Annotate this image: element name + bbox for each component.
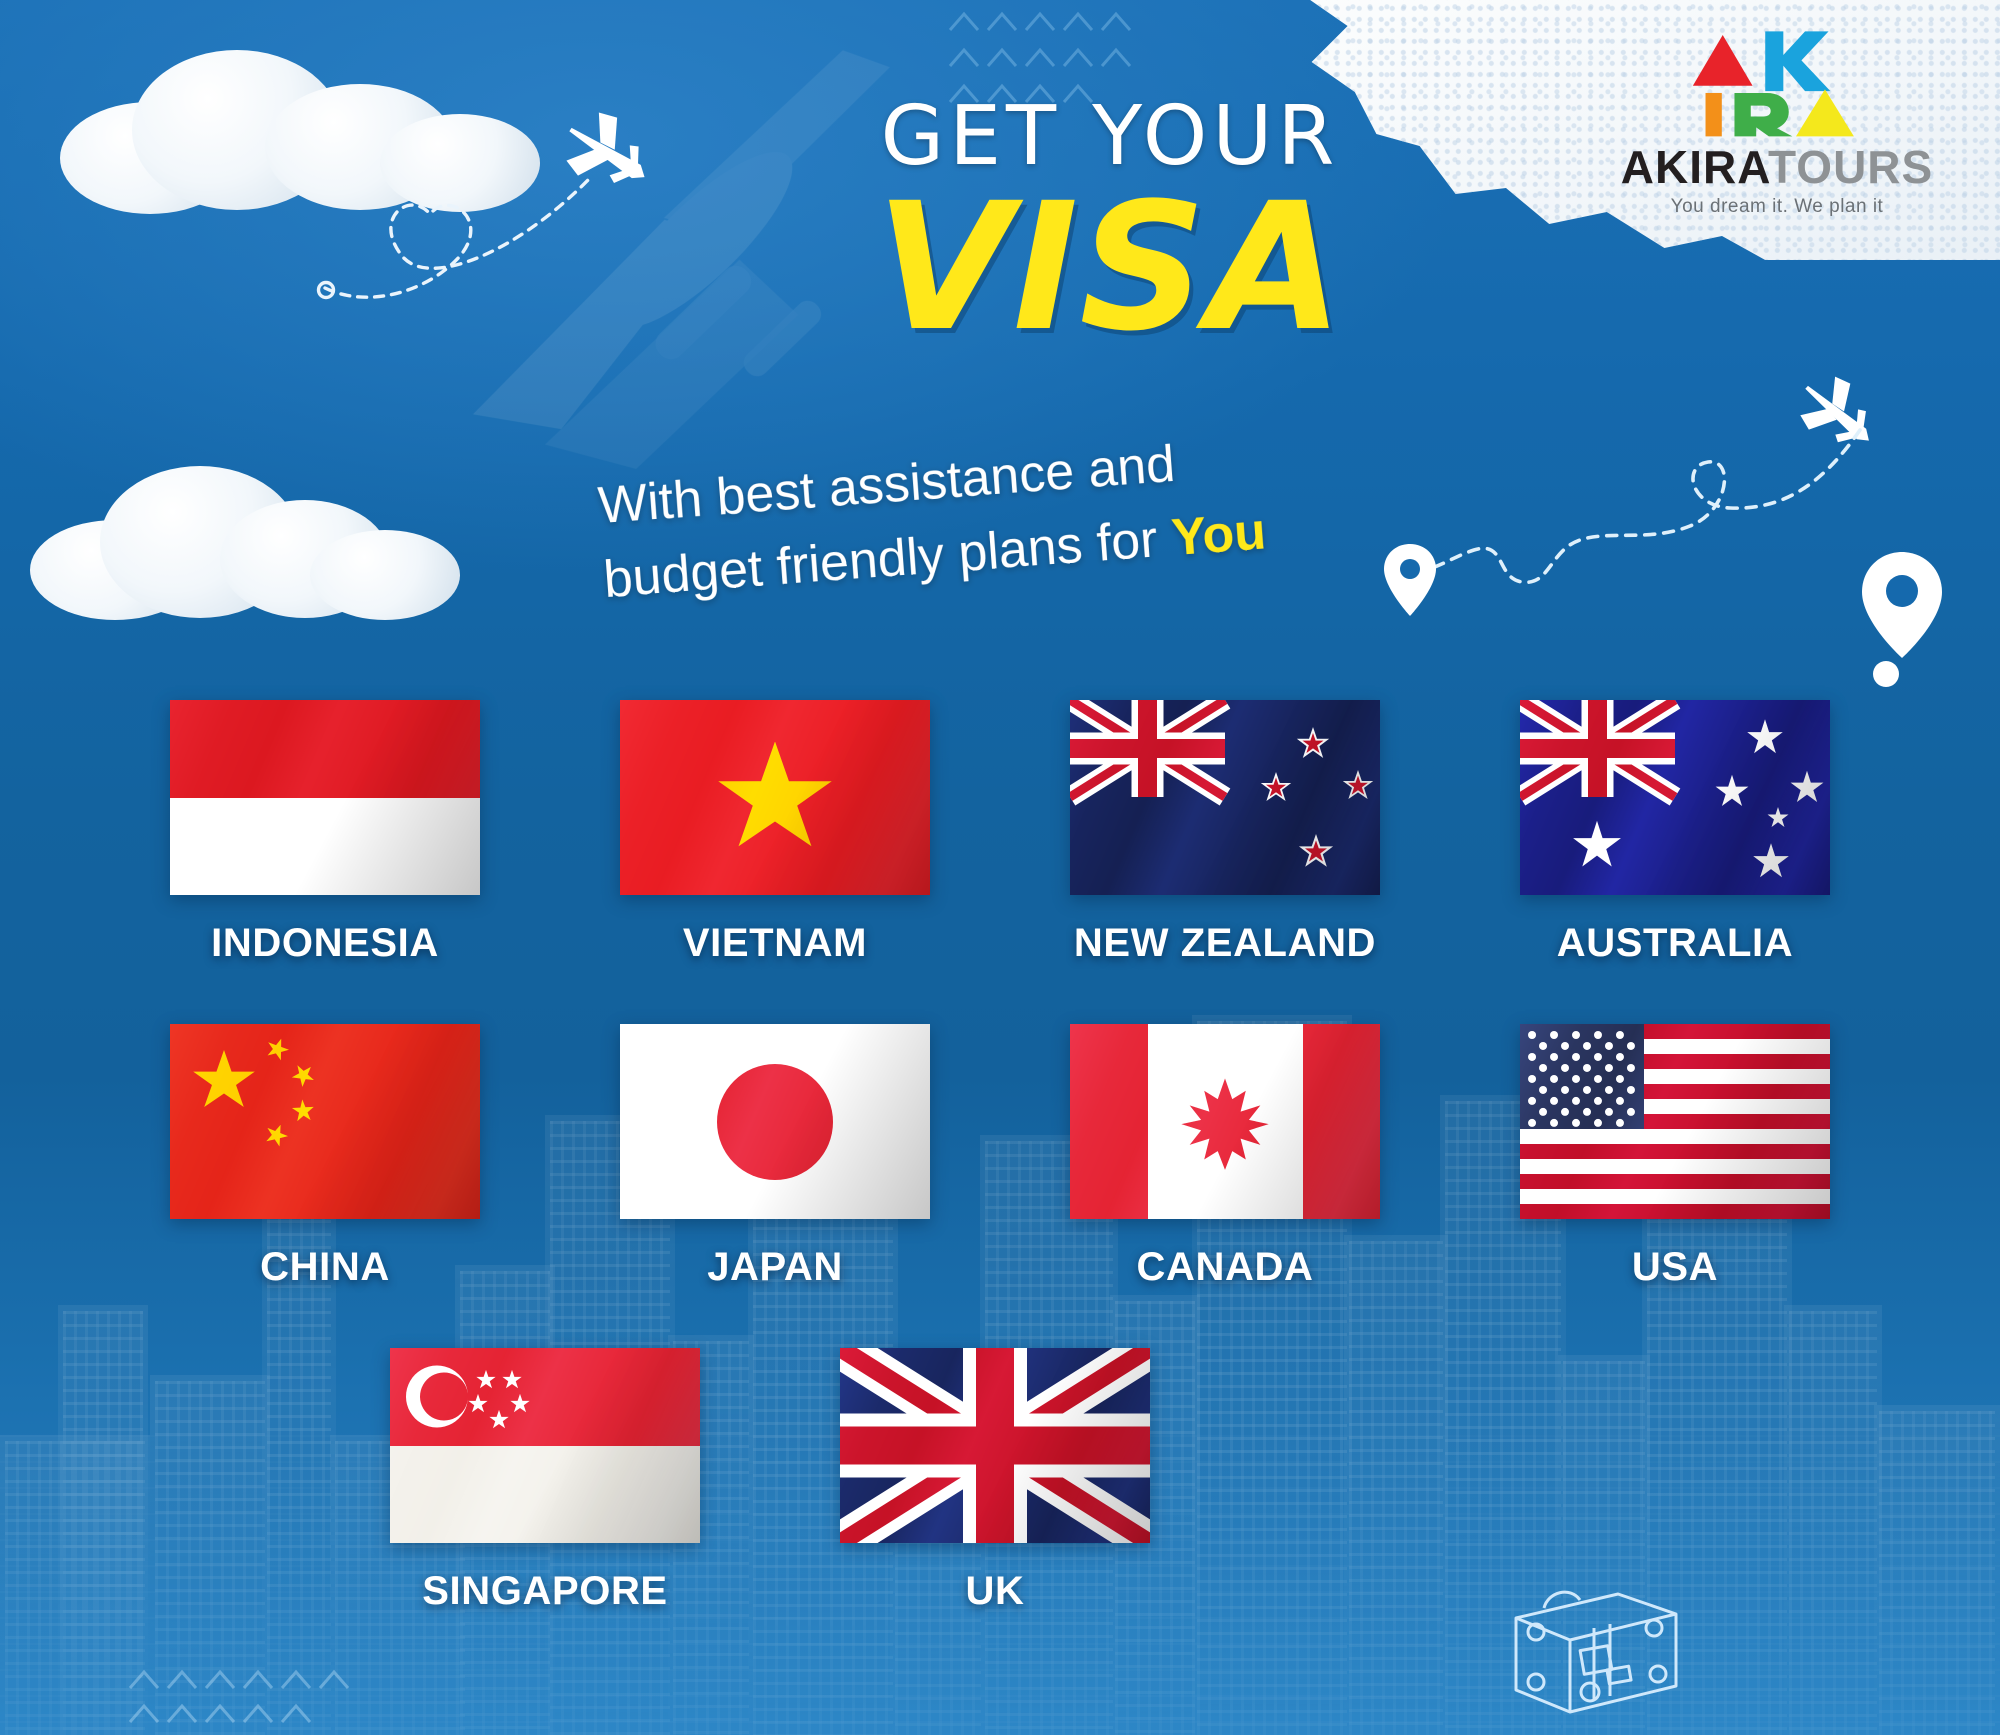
cloud-icon — [30, 450, 460, 620]
flag-row: CHINA JAPAN — [0, 1024, 2000, 1290]
flag-label: CANADA — [1137, 1245, 1314, 1290]
flag-label: JAPAN — [707, 1245, 843, 1290]
flag-australia — [1520, 700, 1830, 895]
flag-china — [170, 1024, 480, 1219]
cloud-icon — [60, 40, 540, 210]
flag-cell-australia[interactable]: AUSTRALIA — [1510, 700, 1840, 966]
flag-label: VIETNAM — [683, 921, 867, 966]
flag-cell-indonesia[interactable]: INDONESIA — [160, 700, 490, 966]
flag-cell-china[interactable]: CHINA — [160, 1024, 490, 1290]
flag-indonesia — [170, 700, 480, 895]
flag-row: SINGAPORE UK — [0, 1348, 2000, 1614]
flag-uk — [840, 1348, 1150, 1543]
flag-label: UK — [966, 1569, 1025, 1614]
flag-vietnam — [620, 700, 930, 895]
flag-grid: INDONESIA VIETNAM — [0, 700, 2000, 1672]
visa-promo-poster: AKIRATOURS You dream it. We plan it — [0, 0, 2000, 1735]
airplane-icon — [1790, 375, 1890, 457]
flag-label: NEW ZEALAND — [1074, 921, 1376, 966]
flag-label: SINGAPORE — [422, 1569, 667, 1614]
flag-japan — [620, 1024, 930, 1219]
flag-label: AUSTRALIA — [1557, 921, 1794, 966]
flag-cell-uk[interactable]: UK — [830, 1348, 1160, 1614]
subtitle-accent-you: You — [1170, 502, 1268, 567]
headline-block: GET YOUR VISA — [740, 96, 1480, 353]
flag-row: INDONESIA VIETNAM — [0, 700, 2000, 966]
flag-cell-canada[interactable]: CANADA — [1060, 1024, 1390, 1290]
flag-cell-new-zealand[interactable]: NEW ZEALAND — [1060, 700, 1390, 966]
flag-label: USA — [1632, 1245, 1718, 1290]
flag-cell-singapore[interactable]: SINGAPORE — [380, 1348, 710, 1614]
flag-label: CHINA — [260, 1245, 390, 1290]
flag-canada — [1070, 1024, 1380, 1219]
flag-usa — [1520, 1024, 1830, 1219]
flag-cell-japan[interactable]: JAPAN — [610, 1024, 940, 1290]
headline-line-2: VISA — [740, 184, 1480, 353]
flag-new-zealand — [1070, 700, 1380, 895]
flag-label: INDONESIA — [211, 921, 439, 966]
flag-cell-vietnam[interactable]: VIETNAM — [610, 700, 940, 966]
flag-cell-usa[interactable]: USA — [1510, 1024, 1840, 1290]
flag-singapore — [390, 1348, 700, 1543]
